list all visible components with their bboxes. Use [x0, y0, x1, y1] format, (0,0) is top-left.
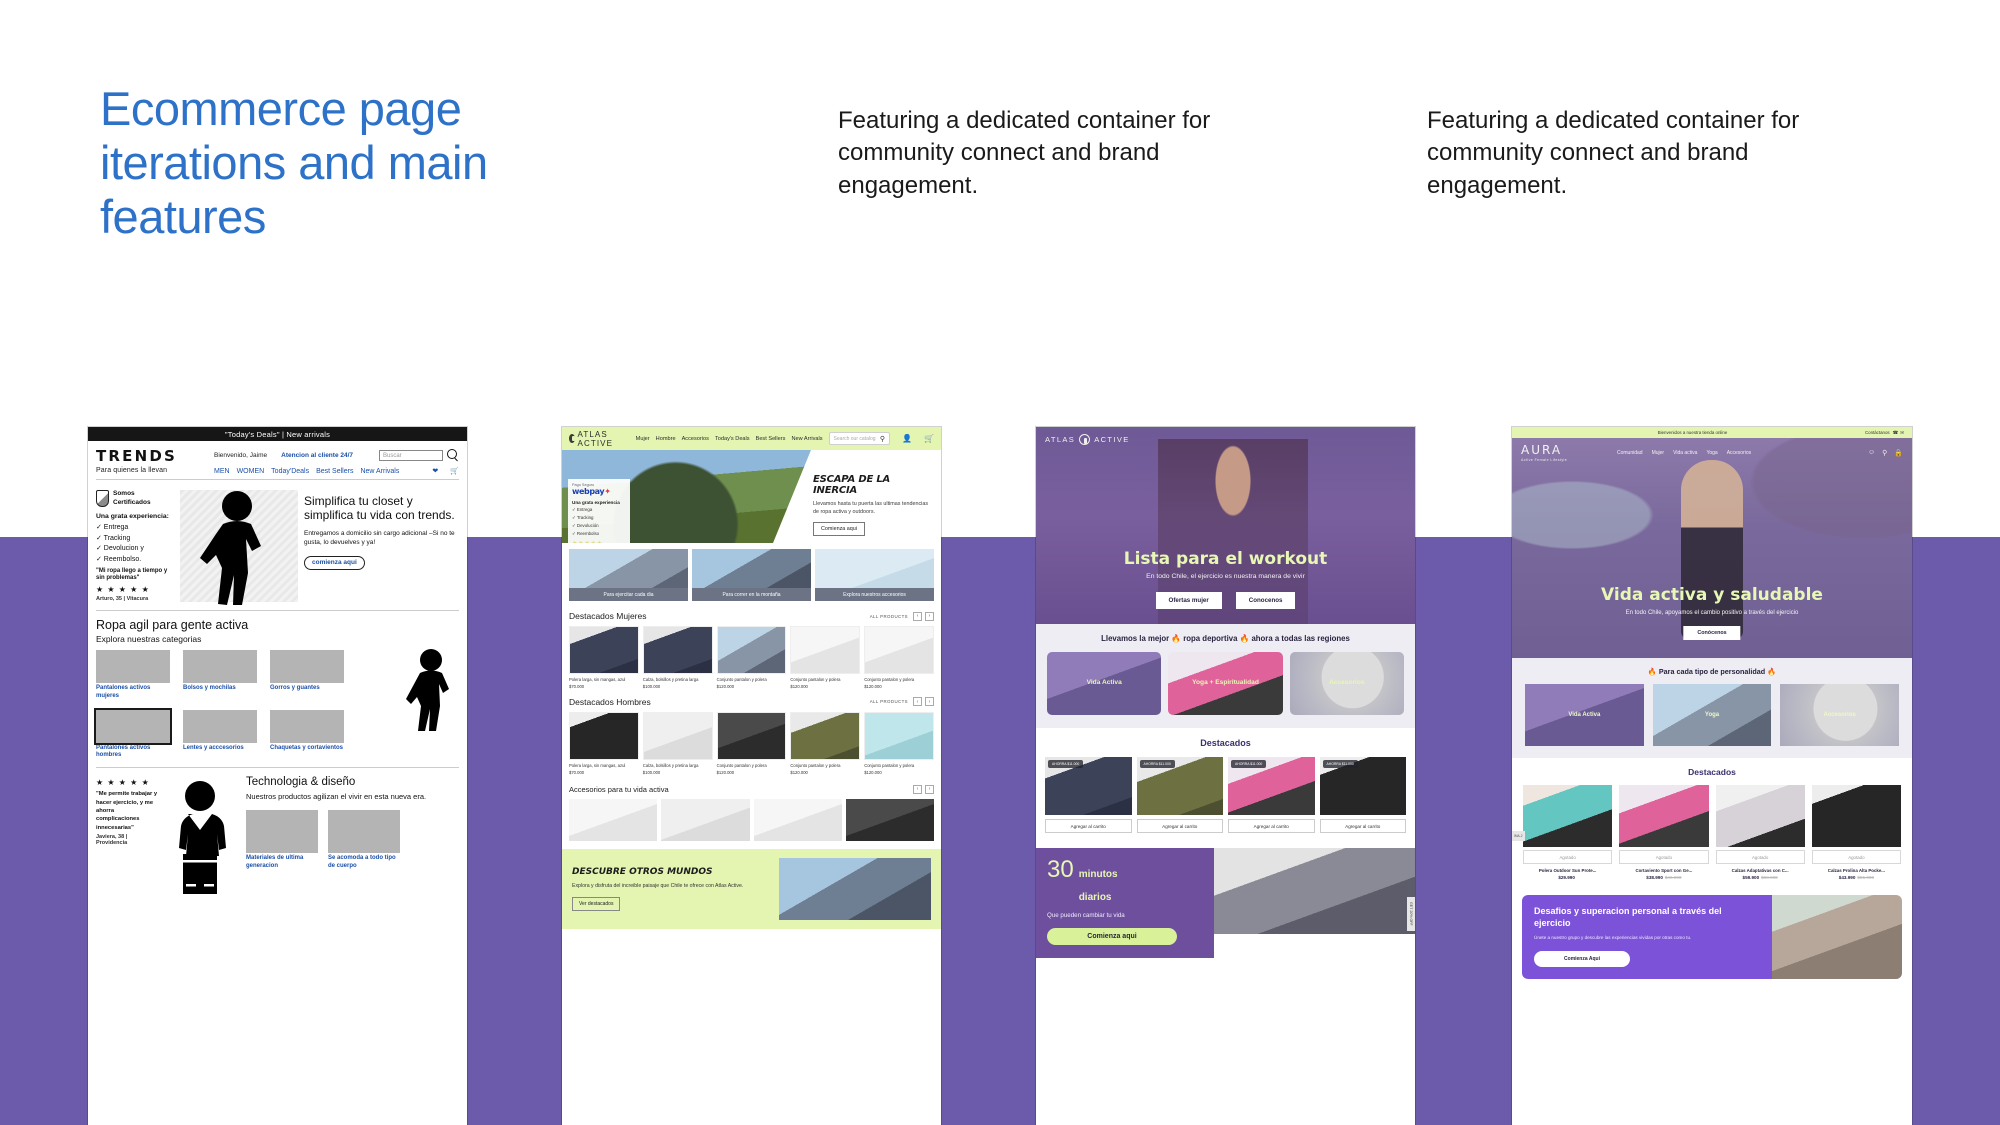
- product-name: Polera larga, sin mangas, azul: [569, 763, 639, 768]
- strip-heading: 🔥 Para cada tipo de personalidad 🔥: [1525, 667, 1899, 676]
- product-price: $29.990: [1523, 875, 1612, 880]
- product-image: [717, 626, 787, 674]
- regions-strip: Llevamos la mejor 🔥 ropa deportiva 🔥 aho…: [1036, 624, 1415, 728]
- category-card[interactable]: Lentes y acccesorios: [183, 710, 257, 761]
- category-card-vida-activa[interactable]: Vida Activa: [1047, 652, 1161, 715]
- promo-cta-button[interactable]: Comienza Aqui: [1534, 951, 1630, 967]
- hero-figure-walking: [180, 490, 298, 602]
- card-label: Yoga: [1705, 712, 1719, 718]
- product-image: [717, 712, 787, 760]
- category-tile[interactable]: Para ejercitar cada dia: [569, 549, 688, 601]
- banner-paragraph: Explora y disfruta del increible paisaje…: [572, 882, 771, 890]
- product-image: [790, 626, 860, 674]
- accessories-row: [569, 799, 934, 841]
- hero-cta-button[interactable]: Comienza aqui: [813, 522, 865, 536]
- nav-item-mujer[interactable]: Mujer: [636, 436, 650, 442]
- product-card[interactable]: Conjunto pantalon y polera$120.000: [717, 712, 787, 775]
- logo-text-right: ACTIVE: [1094, 435, 1130, 444]
- tech-paragraph: Nuestros productos agilizan el vivir en …: [246, 792, 459, 803]
- tech-heading: Technologia & diseño: [246, 776, 459, 788]
- categories-section: Ropa agil para gente activa Explora nues…: [88, 611, 467, 765]
- banner-image-gym: [1214, 848, 1415, 934]
- category-card[interactable]: Chaquetas y cortavientos: [270, 710, 344, 761]
- account-icon[interactable]: 👤: [902, 434, 912, 443]
- product-card[interactable]: AHORRA $11.000Agregar al carrito: [1320, 757, 1407, 833]
- category-label[interactable]: Pantalones activos mujeres: [96, 685, 170, 701]
- nav-item-men[interactable]: MEN: [214, 468, 230, 475]
- product-card[interactable]: Polera larga, sin mangas, azul$70.000: [569, 712, 639, 775]
- categories-title: Ropa agil para gente activa: [96, 618, 459, 632]
- featured-section: Destacados AHORRA $11.000Agregar al carr…: [1036, 728, 1415, 839]
- product-price: $120.000: [717, 770, 787, 775]
- search-icon[interactable]: ⚲: [880, 435, 885, 443]
- section-title: Destacados: [1523, 767, 1901, 777]
- wishlist-heart-icon[interactable]: ❤: [432, 468, 438, 475]
- rating-stars: ★★★★★: [572, 540, 626, 543]
- experience-item: ✓ Tracking: [96, 534, 174, 542]
- promo-bar: "Today's Deals" | New arrivals: [88, 427, 467, 441]
- hero-paragraph: Llevamos hasta tu puerta las ultimas ten…: [813, 500, 933, 516]
- product-price: $120.000: [864, 684, 934, 689]
- category-label[interactable]: Gorros y guantes: [270, 685, 344, 693]
- experience-item: ✓ Reembolso: [572, 531, 626, 537]
- minutes-banner: 30 minutosdiarios Que pueden cambiar tu …: [1036, 848, 1415, 958]
- banner-number: 30: [1047, 859, 1074, 882]
- product-name: Conjunto pantalon y polera: [717, 763, 787, 768]
- hero-section: ATLAS ACTIVE Lista para el workout En to…: [1036, 427, 1415, 624]
- product-name: Conjunto pantalon y polera: [717, 677, 787, 682]
- add-to-cart-button[interactable]: Agregar al carrito: [1045, 819, 1132, 833]
- logo-text: ATLAS ACTIVE: [578, 430, 620, 448]
- category-cards: Vida Activa Yoga + Espiritualidad Acceso…: [1047, 652, 1404, 715]
- brand-block[interactable]: TRENDS Para quienes la llevan: [96, 447, 214, 474]
- product-card[interactable]: Calza, bolsillos y pretina larga$100.000: [643, 626, 713, 689]
- hero-cta-button[interactable]: comienza aqui: [304, 556, 365, 570]
- product-image: [864, 626, 934, 674]
- hero-section: Somos Certificados Una grata experiencia…: [88, 484, 467, 606]
- hero-heading: Simplifica tu closet y simplifica tu vid…: [304, 494, 459, 523]
- product-price: $120.000: [790, 684, 860, 689]
- category-label[interactable]: Bolsos y mochilas: [183, 685, 257, 693]
- hero-paragraph: En todo Chile, el ejercicio es nuestra m…: [1036, 573, 1415, 580]
- brand-block[interactable]: AURA Active Female Lifestyle: [1521, 443, 1591, 462]
- search-area[interactable]: Buscar: [379, 449, 459, 461]
- experience-title: Una grata experiencia: [572, 500, 626, 505]
- product-name: Conjunto pantalon y polera: [864, 677, 934, 682]
- nav-item-comunidad[interactable]: Comunidad: [1617, 450, 1643, 456]
- main-nav[interactable]: Comunidad Mujer Vida activa Yoga Accesor…: [1617, 450, 1751, 456]
- savings-badge: AHORRA $11.000: [1140, 760, 1175, 768]
- personality-strip: 🔥 Para cada tipo de personalidad 🔥 Vida …: [1512, 658, 1912, 758]
- carousel-next-button[interactable]: ›: [925, 697, 934, 706]
- category-label[interactable]: Pantalones activos hombres: [96, 745, 170, 761]
- accessory-image-beltbag[interactable]: [569, 799, 657, 841]
- section-title: Accesorios para tu vida activa: [569, 785, 669, 794]
- welcome-text: Bienvenido, Jaime: [214, 452, 267, 459]
- product-card[interactable]: AHORRA $11.000Agregar al carrito: [1137, 757, 1224, 833]
- certified-badge: Somos Certificados: [96, 490, 174, 507]
- page-title: Ecommerce page iterations and main featu…: [100, 82, 620, 244]
- tech-image: [328, 810, 400, 853]
- category-card-accesorios[interactable]: Accesorios: [1290, 652, 1404, 715]
- product-name: Cortaviento Sport con Ge...: [1619, 868, 1708, 873]
- account-icon[interactable]: ☺: [1868, 449, 1875, 457]
- nav-item-newarrivals[interactable]: New Arrivals: [360, 468, 399, 475]
- product-price: $120.000: [717, 684, 787, 689]
- nav-item-women[interactable]: WOMEN: [237, 468, 265, 475]
- caption-column-1: Featuring a dedicated container for comm…: [838, 105, 1278, 202]
- stock-status: Agotado: [1523, 850, 1612, 864]
- product-card[interactable]: Agotado Polera Outdoor Sun Prote... $29.…: [1523, 785, 1612, 880]
- experience-item: ✓ Entrega: [96, 523, 174, 531]
- product-card[interactable]: Agotado Cortaviento Sport con Ge... $38.…: [1619, 785, 1708, 880]
- hero-cta-button[interactable]: Conócenos: [1683, 626, 1740, 640]
- tech-image: [246, 810, 318, 853]
- experience-item: ✓ Tracking: [572, 515, 626, 521]
- category-card-vida-activa[interactable]: Vida Activa: [1525, 684, 1644, 746]
- nav-item-hombre[interactable]: Hombre: [656, 436, 676, 442]
- add-to-cart-button[interactable]: Agregar al carrito: [1137, 819, 1224, 833]
- hero-paragraph: En todo Chile, apoyamos el cambio positi…: [1512, 610, 1912, 616]
- product-image: [1523, 785, 1612, 847]
- category-tiles: Para ejercitar cada dia Para correr en l…: [562, 543, 941, 607]
- experience-item: ✓ Entrega: [572, 507, 626, 513]
- product-price: $38.990$46.990: [1619, 875, 1708, 880]
- hero-section: ESCAPA DE LA INERCIA Llevamos hasta tu p…: [562, 450, 941, 543]
- category-image: [270, 710, 344, 743]
- brand-block[interactable]: ATLAS ACTIVE: [569, 430, 620, 448]
- promo-heading: Desafios y superacion personal a través …: [1534, 906, 1760, 929]
- banner-image-trailrunners: [779, 858, 931, 920]
- product-price: $70.000: [569, 770, 639, 775]
- product-card[interactable]: AHORRA $11.000Agregar al carrito: [1228, 757, 1315, 833]
- hero-heading: ESCAPA DE LA INERCIA: [813, 474, 933, 496]
- banner-word-2: diarios: [1079, 892, 1112, 903]
- category-label[interactable]: Lentes y acccesorios: [183, 745, 257, 753]
- category-card[interactable]: Pantalones activos mujeres: [96, 650, 170, 701]
- carousel-prev-button[interactable]: ‹: [913, 785, 922, 794]
- logo-text: TRENDS: [96, 447, 214, 465]
- nav-item-newarrivals[interactable]: New Arrivals: [791, 436, 822, 442]
- tech-card[interactable]: Materiales de ultima generacion: [246, 810, 318, 871]
- announcement-bar: Bienvenidos a nuestra tienda online Cont…: [1512, 427, 1912, 438]
- experience-title: Una grata experiencia:: [96, 513, 174, 520]
- category-image: [183, 710, 257, 743]
- product-name: Calzas Adaptativas con C...: [1716, 868, 1805, 873]
- section-title: Destacados: [1045, 738, 1406, 748]
- product-card[interactable]: Calza, bolsillos y pretina larga$100.000: [643, 712, 713, 775]
- carousel-prev-button[interactable]: ‹: [913, 697, 922, 706]
- logo-text: AURA: [1521, 443, 1591, 457]
- caption-column-2: Featuring a dedicated container for comm…: [1427, 105, 1867, 202]
- product-name: Conjunto pantalon y polera: [790, 763, 860, 768]
- mockup-atlas-active-purple[interactable]: ATLAS ACTIVE Lista para el workout En to…: [1036, 427, 1415, 1125]
- product-image: [643, 626, 713, 674]
- product-name: Polera Outdoor Sun Prote...: [1523, 868, 1612, 873]
- category-card[interactable]: Bolsos y mochilas: [183, 650, 257, 701]
- product-price: $70.000: [569, 684, 639, 689]
- stock-status: Agotado: [1716, 850, 1805, 864]
- atlas-logo-icon: [569, 434, 575, 443]
- card-label: Accesorios: [1824, 712, 1856, 718]
- product-name: Calzas Prolina Alta Pocke...: [1812, 868, 1901, 873]
- discover-banner: DESCUBRE OTROS MUNDOS Explora y disfruta…: [562, 849, 941, 929]
- logo-subtitle: Active Female Lifestyle: [1521, 458, 1591, 462]
- announcement-text: Bienvenidos a nuestra tienda online: [1658, 430, 1728, 435]
- add-to-cart-button[interactable]: Agregar al carrito: [1228, 819, 1315, 833]
- tile-caption: Explora nuestros accesorios: [815, 588, 934, 601]
- product-image: [643, 712, 713, 760]
- product-image: [1812, 785, 1901, 847]
- category-image: [270, 650, 344, 683]
- trust-panel: Pago Seguro webpay✦ Una grata experienci…: [568, 479, 630, 543]
- product-name: Conjunto pantalon y polera: [864, 763, 934, 768]
- promo-image-selfie: [1772, 895, 1902, 979]
- card-label: Vida Activa: [1087, 679, 1122, 687]
- nav-item-accesorios[interactable]: Accesorios: [682, 436, 709, 442]
- contact-link[interactable]: Contáctanos: [1865, 430, 1890, 435]
- category-tile[interactable]: Explora nuestros accesorios: [815, 549, 934, 601]
- experience-item: ✓ Reembolso.: [96, 555, 174, 563]
- carousel-next-button[interactable]: ›: [925, 785, 934, 794]
- banner-cta-button[interactable]: Comienza aqui: [1047, 928, 1177, 945]
- savings-badge: AHORRA $11.000: [1231, 760, 1266, 768]
- savings-badge: AHORRA $11.000: [1323, 760, 1358, 768]
- search-input[interactable]: Search our catalog ⚲: [829, 432, 891, 445]
- experience-item: ✓ Devolución: [572, 523, 626, 529]
- banner-word-1: minutos: [1079, 869, 1118, 880]
- card-label: Accesorios: [1329, 679, 1365, 687]
- category-label[interactable]: Chaquetas y cortavientos: [270, 745, 344, 753]
- product-image: [569, 626, 639, 674]
- accessories-section: Accesorios para tu vida activa ‹›: [562, 781, 941, 841]
- promo-paragraph: Únete a nuestro grupo y descubre las exp…: [1534, 935, 1760, 942]
- nav-item-mujer[interactable]: Mujer: [1652, 450, 1665, 456]
- testimonial-author: Javiera, 38 | Providencia: [96, 834, 158, 846]
- cart-lock-icon[interactable]: 🔒: [1894, 449, 1903, 457]
- section-title: Destacados Hombres: [569, 697, 651, 707]
- nav-item-bestsellers[interactable]: Best Sellers: [316, 468, 353, 475]
- product-image: [1716, 785, 1805, 847]
- nav-item-bestsellers[interactable]: Best Sellers: [756, 436, 786, 442]
- mockup-atlas-active-light[interactable]: ATLAS ACTIVE Mujer Hombre Accesorios Tod…: [562, 427, 941, 1125]
- tech-grid: Materiales de ultima generacion Se acomo…: [246, 810, 459, 871]
- rating-stars: ★ ★ ★ ★ ★: [96, 585, 174, 594]
- stock-status: Agotado: [1619, 850, 1708, 864]
- testimonial-quote: "Me permite trabajar y hacer ejercicio, …: [96, 790, 158, 832]
- product-price: $100.000: [643, 684, 713, 689]
- product-image: [864, 712, 934, 760]
- side-tab-label: IMA-2: [1512, 831, 1525, 841]
- product-name: Calza, bolsillos y pretina larga: [643, 677, 713, 682]
- figure-standing-icon: [401, 647, 461, 731]
- banner-cta-button[interactable]: Ver destacados: [572, 897, 620, 911]
- product-name: Conjunto pantalon y polera: [790, 677, 860, 682]
- search-input[interactable]: Buscar: [379, 450, 443, 461]
- accessory-image-sunglasses[interactable]: [661, 799, 749, 841]
- nav-item-deals[interactable]: Today's Deals: [715, 436, 750, 442]
- certified-label: Somos Certificados: [113, 490, 174, 506]
- hero-heading: Lista para el workout: [1036, 549, 1415, 569]
- carousel-prev-button[interactable]: ‹: [913, 612, 922, 621]
- mockup-aura[interactable]: Bienvenidos a nuestra tienda online Cont…: [1512, 427, 1912, 1125]
- accessory-image-speaker[interactable]: [754, 799, 842, 841]
- product-row: AHORRA $11.000Agregar al carrito AHORRA …: [1045, 757, 1406, 833]
- product-price: $120.000: [790, 770, 860, 775]
- product-name: Polera larga, sin mangas, azul: [569, 677, 639, 682]
- community-promo-banner: Desafios y superacion personal a través …: [1522, 895, 1902, 979]
- mail-icon[interactable]: ✉: [1900, 430, 1904, 436]
- banner-heading: DESCUBRE OTROS MUNDOS: [572, 867, 771, 877]
- strip-heading: Llevamos la mejor 🔥 ropa deportiva 🔥 aho…: [1047, 634, 1404, 643]
- carousel-next-button[interactable]: ›: [925, 612, 934, 621]
- category-tile[interactable]: Para correr en la montaña: [692, 549, 811, 601]
- cart-icon[interactable]: 🛒: [924, 434, 934, 443]
- product-image: [790, 712, 860, 760]
- hero-heading: Vida activa y saludable: [1512, 585, 1912, 605]
- tile-caption: Para ejercitar cada dia: [569, 588, 688, 601]
- category-card[interactable]: Pantalones activos hombres: [96, 710, 170, 761]
- product-name: Calza, bolsillos y pretina larga: [643, 763, 713, 768]
- search-icon[interactable]: ⚲: [1882, 449, 1887, 457]
- product-row: Agotado Polera Outdoor Sun Prote... $29.…: [1523, 785, 1901, 880]
- category-card-yoga[interactable]: Yoga: [1653, 684, 1772, 746]
- tagline: Para quienes la llevan: [96, 467, 214, 474]
- product-price: $100.000: [643, 770, 713, 775]
- product-price: $43.990$55.990: [1812, 875, 1901, 880]
- tech-section: ★ ★ ★ ★ ★ "Me permite trabajar y hacer e…: [88, 768, 467, 905]
- product-card[interactable]: Conjunto pantalon y polera$120.000: [790, 626, 860, 689]
- product-image: [569, 712, 639, 760]
- accessory-image-fabric[interactable]: [846, 799, 934, 841]
- product-row: Polera larga, sin mangas, azul$70.000 Ca…: [569, 712, 934, 775]
- nav-item-vida-activa[interactable]: Vida activa: [1673, 450, 1697, 456]
- all-products-link[interactable]: ALL PRODUCTS: [870, 614, 908, 619]
- category-card-yoga[interactable]: Yoga + Espiritualidad: [1168, 652, 1282, 715]
- header-divider: [96, 479, 459, 480]
- main-nav[interactable]: Mujer Hombre Accesorios Today's Deals Be…: [636, 436, 823, 442]
- categories-subtitle: Explora nuestras categorias: [96, 634, 459, 644]
- men-featured-section: Destacados Hombres ALL PRODUCTS ‹› Poler…: [562, 693, 941, 775]
- category-image: [96, 650, 170, 683]
- add-to-cart-button[interactable]: Agregar al carrito: [1320, 819, 1407, 833]
- category-image-selected: [96, 710, 170, 743]
- hero-cta-conocenos-button[interactable]: Conocenos: [1236, 592, 1296, 609]
- card-label: Yoga + Espiritualidad: [1192, 679, 1259, 687]
- category-cards: Vida Activa Yoga Accesorios: [1525, 684, 1899, 746]
- search-placeholder-text: Search our catalog: [834, 436, 876, 442]
- product-card[interactable]: Agotado Calzas Adaptativas con C... $59.…: [1716, 785, 1805, 880]
- hero-section: AURA Active Female Lifestyle Comunidad M…: [1512, 438, 1912, 658]
- tech-label[interactable]: Se acomoda a todo tipo de cuerpo: [328, 855, 400, 871]
- tech-label[interactable]: Materiales de ultima generacion: [246, 855, 318, 871]
- tile-caption: Para correr en la montaña: [692, 588, 811, 601]
- banner-number-block: 30 minutosdiarios: [1047, 859, 1203, 905]
- card-label: Vida Activa: [1568, 712, 1600, 718]
- hero-cta-ofertas-button[interactable]: Ofertas mujer: [1156, 592, 1222, 609]
- main-nav[interactable]: MEN WOMEN Today'Deals Best Sellers New A…: [214, 468, 459, 475]
- mockup-trends[interactable]: "Today's Deals" | New arrivals TRENDS Pa…: [88, 427, 467, 1125]
- tech-card[interactable]: Se acomoda a todo tipo de cuerpo: [328, 810, 400, 871]
- site-header: AURA Active Female Lifestyle Comunidad M…: [1512, 443, 1912, 462]
- product-card[interactable]: Conjunto pantalon y polera$120.000: [864, 712, 934, 775]
- savings-badge: AHORRA $11.000: [1048, 760, 1083, 768]
- nav-item-deals[interactable]: Today'Deals: [271, 468, 309, 475]
- category-image: [183, 650, 257, 683]
- banner-paragraph: Que pueden cambiar tu vida: [1047, 912, 1203, 919]
- site-header: TRENDS Para quienes la llevan Bienvenido…: [88, 441, 467, 484]
- product-card[interactable]: Conjunto pantalon y polera$120.000: [717, 626, 787, 689]
- cart-icon[interactable]: 🛒: [450, 468, 459, 475]
- product-card[interactable]: Conjunto pantalon y polera$120.000: [864, 626, 934, 689]
- testimonial-quote: "Mi ropa llego a tiempo y sin problemas": [96, 568, 174, 584]
- discount-side-tab[interactable]: GET 20% OFF: [1407, 897, 1415, 931]
- category-card[interactable]: Gorros y guantes: [270, 650, 344, 701]
- product-price: $59.900$68.990: [1716, 875, 1805, 880]
- section-title: Destacados Mujeres: [569, 611, 646, 621]
- stock-status: Agotado: [1812, 850, 1901, 864]
- women-featured-section: Destacados Mujeres ALL PRODUCTS ‹› Poler…: [562, 607, 941, 689]
- support-link[interactable]: Atencion al cliente 24/7: [281, 452, 353, 459]
- all-products-link[interactable]: ALL PRODUCTS: [870, 699, 908, 704]
- product-card[interactable]: Conjunto pantalon y polera$120.000: [790, 712, 860, 775]
- product-image: [1619, 785, 1708, 847]
- brand-block[interactable]: ATLAS ACTIVE: [1045, 434, 1130, 445]
- product-card[interactable]: Agotado Calzas Prolina Alta Pocke... $43…: [1812, 785, 1901, 880]
- site-header: ATLAS ACTIVE Mujer Hombre Accesorios Tod…: [562, 427, 941, 450]
- nav-item-yoga[interactable]: Yoga: [1706, 450, 1717, 456]
- webpay-logo: webpay✦: [572, 487, 626, 496]
- featured-section: Destacados Agotado Polera Outdoor Sun Pr…: [1512, 758, 1912, 888]
- product-price: $120.000: [864, 770, 934, 775]
- shield-icon: [96, 490, 109, 507]
- figure-athlete-icon: [164, 776, 240, 901]
- nav-item-accesorios[interactable]: Accesorios: [1727, 450, 1751, 456]
- phone-icon[interactable]: ☎: [1893, 430, 1899, 436]
- hero-paragraph: Entregamos a domicilio sin cargo adicion…: [304, 529, 459, 548]
- logo-text-left: ATLAS: [1045, 435, 1075, 444]
- product-row: Polera larga, sin mangas, azul$70.000 Ca…: [569, 626, 934, 689]
- category-card-accesorios[interactable]: Accesorios: [1780, 684, 1899, 746]
- search-icon[interactable]: [447, 449, 459, 461]
- atlas-logo-icon: [1079, 434, 1090, 445]
- testimonial-author: Arturo, 35 | Vitacura: [96, 596, 174, 602]
- product-card[interactable]: Polera larga, sin mangas, azul$70.000: [569, 626, 639, 689]
- product-card[interactable]: AHORRA $11.000Agregar al carrito: [1045, 757, 1132, 833]
- rating-stars: ★ ★ ★ ★ ★: [96, 778, 158, 787]
- experience-item: ✓ Devolucion y: [96, 544, 174, 552]
